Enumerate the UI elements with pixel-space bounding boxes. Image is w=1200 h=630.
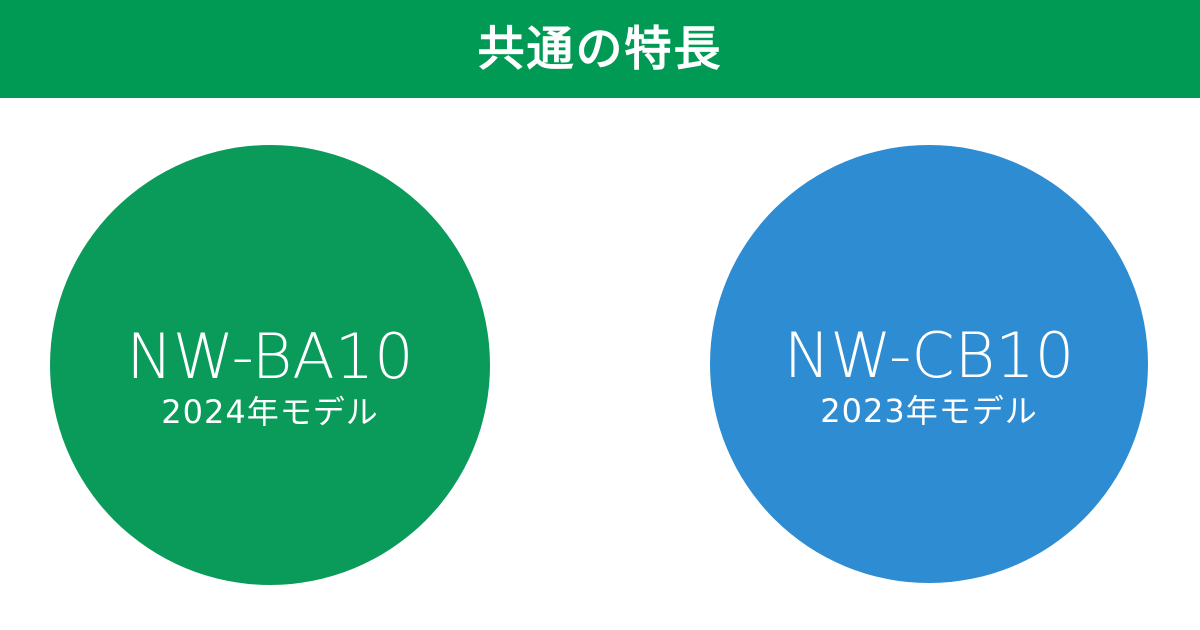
- model-circle-nw-cb10: NW-CB10 2023年モデル: [710, 145, 1148, 583]
- model-circle-text-nw-cb10: NW-CB10 2023年モデル: [784, 323, 1074, 429]
- header-banner: 共通の特長: [0, 0, 1200, 98]
- model-circles-container: NW-BA10 2024年モデル NW-CB10 2023年モデル: [0, 98, 1200, 630]
- page-title: 共通の特長: [478, 26, 723, 73]
- model-circle-text-nw-ba10: NW-BA10 2024年モデル: [126, 324, 413, 430]
- model-name-nw-cb10: NW-CB10: [784, 323, 1074, 388]
- model-name-nw-ba10: NW-BA10: [126, 324, 413, 389]
- comparison-graphic: 共通の特長 NW-BA10 2024年モデル NW-CB10 2023年モデル: [0, 0, 1200, 630]
- model-circle-nw-ba10: NW-BA10 2024年モデル: [50, 145, 490, 585]
- model-year-nw-ba10: 2024年モデル: [161, 395, 378, 430]
- model-year-nw-cb10: 2023年モデル: [820, 394, 1037, 429]
